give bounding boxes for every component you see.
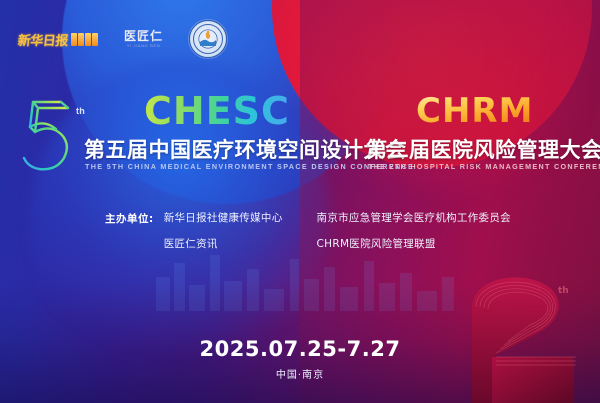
organizer-item: 南京市应急管理学会医疗机构工作委员会 [317, 210, 511, 225]
chesc-cn-title: 第五届中国医疗环境空间设计大会 [84, 134, 407, 164]
numeral-five-graphic [16, 98, 78, 176]
organizers-column-2: 南京市应急管理学会医疗机构工作委员会 CHRM医院风险管理联盟 [317, 210, 511, 251]
conference-poster: th 新华日报 医匠仁 YI JIANG REN [0, 0, 600, 403]
event-date-block: 2025.07.25-7.27 中国·南京 [0, 338, 600, 381]
chrm-en-title: THE 2TH HOSPITAL RISK MANAGEMENT CONFERE… [368, 162, 600, 171]
yijiangren-logo-cn: 医匠仁 [124, 30, 163, 42]
organizer-item: 医匠仁资讯 [164, 236, 283, 251]
organizers-section: 主办单位: 新华日报社健康传媒中心 医匠仁资讯 南京市应急管理学会医疗机构工作委… [105, 210, 511, 251]
xinhua-daily-logo: 新华日报 [18, 28, 98, 50]
organizer-item: 新华日报社健康传媒中心 [164, 210, 283, 225]
event-location: 中国·南京 [0, 366, 600, 381]
chrm-title-block: CHRM 第二届医院风险管理大会 THE 2TH HOSPITAL RISK M… [366, 92, 594, 186]
sponsor-logo-bar: 新华日报 医匠仁 YI JIANG REN [18, 20, 227, 58]
xinhua-logo-text: 新华日报 [17, 30, 69, 49]
yijiangren-logo: 医匠仁 YI JIANG REN [124, 30, 163, 48]
chesc-en-title: THE 5TH CHINA MEDICAL ENVIRONMENT SPACE … [85, 162, 414, 171]
yijiangren-logo-en: YI JIANG REN [124, 44, 163, 48]
xinhua-logo-blocks [71, 33, 98, 46]
event-date: 2025.07.25-7.27 [0, 338, 600, 361]
emblem-ring [193, 24, 223, 54]
numeral-five-suffix: th [76, 106, 85, 116]
chrm-cn-title: 第二届医院风险管理大会 [366, 134, 600, 164]
organizer-item: CHRM医院风险管理联盟 [317, 236, 511, 251]
organizers-column-1: 新华日报社健康传媒中心 医匠仁资讯 [164, 210, 283, 251]
conference-titles: th CHESC 第五届中国医疗环境空间设计大会 THE 5TH CHINA M… [0, 92, 600, 188]
chesc-acronym: CHESC [144, 92, 290, 130]
chesc-title-block: th CHESC 第五届中国医疗环境空间设计大会 THE 5TH CHINA M… [16, 92, 356, 186]
organizers-columns: 新华日报社健康传媒中心 医匠仁资讯 南京市应急管理学会医疗机构工作委员会 CHR… [164, 210, 511, 251]
chrm-acronym: CHRM [416, 94, 533, 128]
organizers-label: 主办单位: [105, 210, 154, 226]
association-emblem-icon [189, 20, 227, 58]
